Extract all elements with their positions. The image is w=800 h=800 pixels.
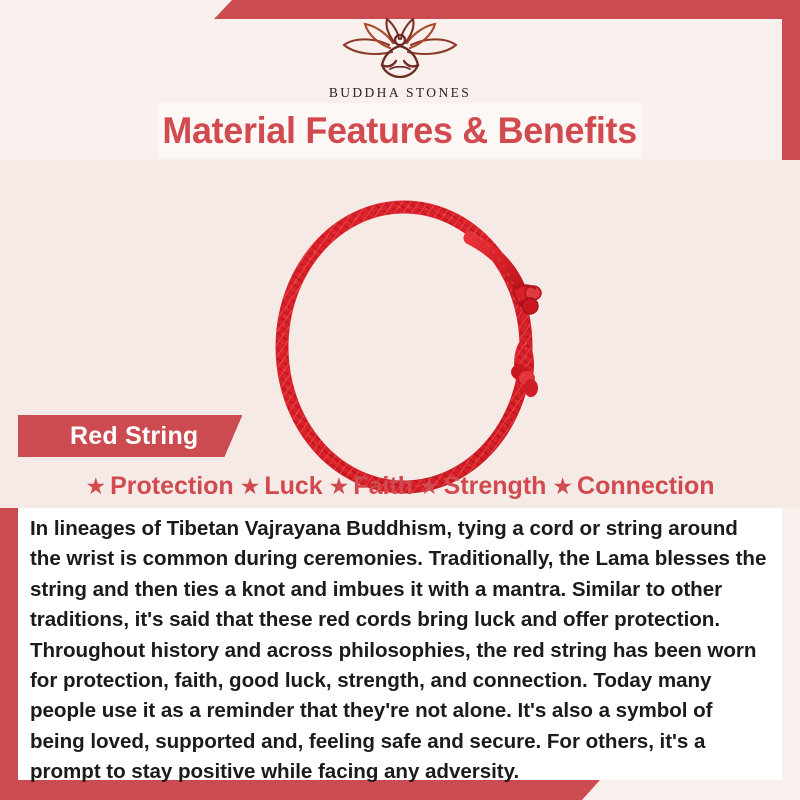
star-icon: ★ bbox=[419, 475, 440, 498]
page-title-panel: Material Features & Benefits bbox=[158, 103, 642, 159]
star-icon: ★ bbox=[240, 475, 261, 498]
material-name-label: Red String bbox=[70, 422, 198, 451]
star-icon: ★ bbox=[552, 475, 573, 498]
lotus-meditation-icon bbox=[0, 16, 800, 83]
poster-canvas: BUDDHA STONES Material Features & Benefi… bbox=[0, 0, 800, 800]
star-icon: ★ bbox=[85, 475, 106, 498]
benefits-row: ★ Protection ★ Luck ★ Faith ★ Strength ★… bbox=[18, 466, 782, 506]
description-panel: In lineages of Tibetan Vajrayana Buddhis… bbox=[18, 508, 782, 780]
benefit-label: Connection bbox=[577, 472, 715, 501]
benefit-label: Protection bbox=[110, 472, 234, 501]
benefit-item-luck: ★ Luck bbox=[240, 472, 323, 501]
benefit-item-strength: ★ Strength bbox=[419, 472, 546, 501]
benefit-label: Luck bbox=[264, 472, 322, 501]
benefit-item-protection: ★ Protection bbox=[85, 472, 233, 501]
page-title: Material Features & Benefits bbox=[163, 110, 638, 152]
benefit-item-faith: ★ Faith bbox=[329, 472, 413, 501]
benefit-label: Faith bbox=[353, 472, 413, 501]
brand-logo: BUDDHA STONES bbox=[0, 16, 800, 101]
description-text: In lineages of Tibetan Vajrayana Buddhis… bbox=[30, 514, 768, 788]
material-name-ribbon: Red String bbox=[18, 415, 242, 457]
star-icon: ★ bbox=[329, 475, 350, 498]
benefit-item-connection: ★ Connection bbox=[552, 472, 714, 501]
brand-name: BUDDHA STONES bbox=[0, 85, 800, 101]
benefit-label: Strength bbox=[444, 472, 547, 501]
